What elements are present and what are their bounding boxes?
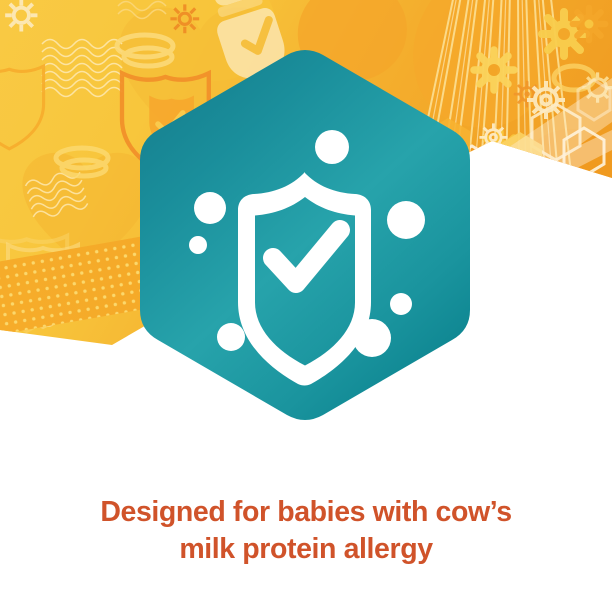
gear-icon bbox=[474, 50, 514, 90]
bubble-left-small bbox=[189, 236, 207, 254]
caption-text: Designed for babies with cow’s milk prot… bbox=[0, 494, 612, 568]
bubble-left-large bbox=[194, 192, 226, 224]
gear-icon bbox=[573, 8, 605, 40]
bubble-top bbox=[315, 130, 349, 164]
bubble-right-small bbox=[390, 293, 412, 315]
promo-graphic: Designed for babies with cow’s milk prot… bbox=[0, 0, 612, 612]
bubble-right-large bbox=[387, 201, 425, 239]
bubble-bottom-left bbox=[217, 323, 245, 351]
